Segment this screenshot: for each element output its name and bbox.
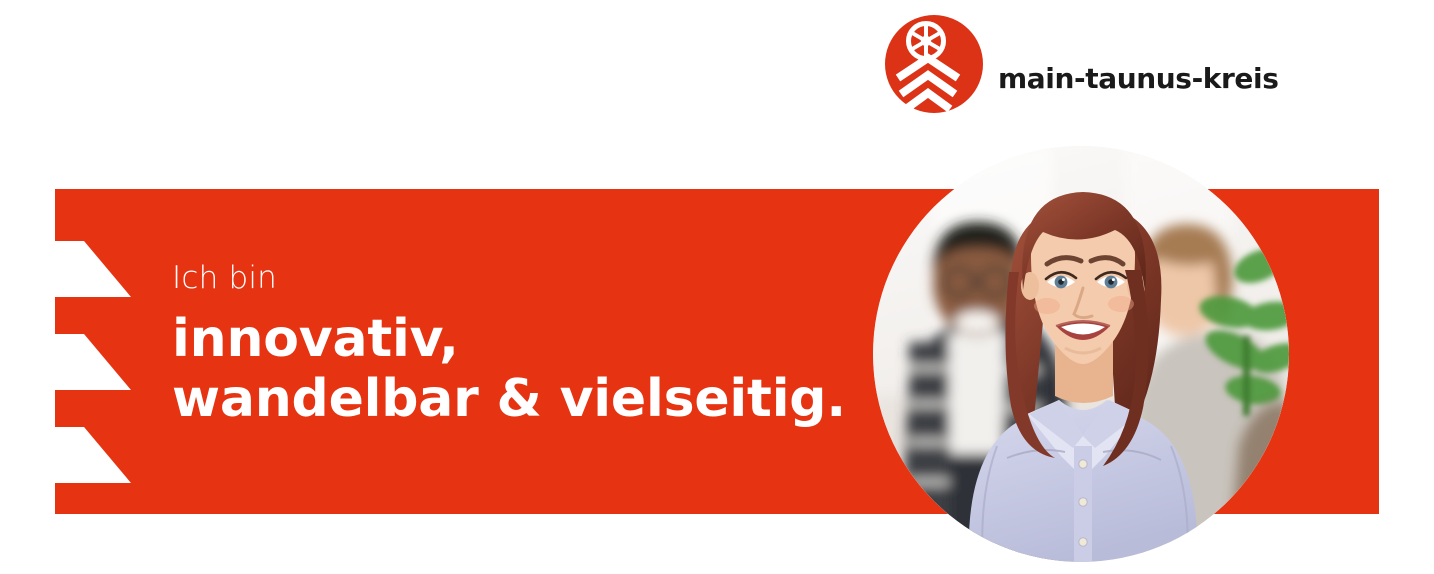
stripe-3	[55, 427, 131, 483]
headline-line-2: wandelbar & vielseitig.	[172, 369, 932, 429]
page-header: main-taunus-kreis	[0, 0, 1434, 140]
diagonal-stripes-decoration	[55, 189, 185, 514]
headline-kicker: Ich bin	[172, 261, 932, 297]
page-root: main-taunus-kreis Ich bin innovativ, wan…	[0, 0, 1434, 574]
main-taunus-kreis-wappen-logo	[884, 14, 984, 114]
logo-lockup[interactable]: main-taunus-kreis	[884, 14, 1278, 114]
stripe-1	[55, 241, 131, 297]
hero-headline: Ich bin innovativ, wandelbar & vielseiti…	[172, 261, 932, 430]
headline-line-1: innovativ,	[172, 309, 932, 369]
logo-wordmark: main-taunus-kreis	[998, 35, 1278, 93]
stripe-2	[55, 334, 131, 390]
team-portrait-photo	[873, 146, 1289, 562]
page-title: innovativ, wandelbar & vielseitig.	[172, 309, 932, 430]
